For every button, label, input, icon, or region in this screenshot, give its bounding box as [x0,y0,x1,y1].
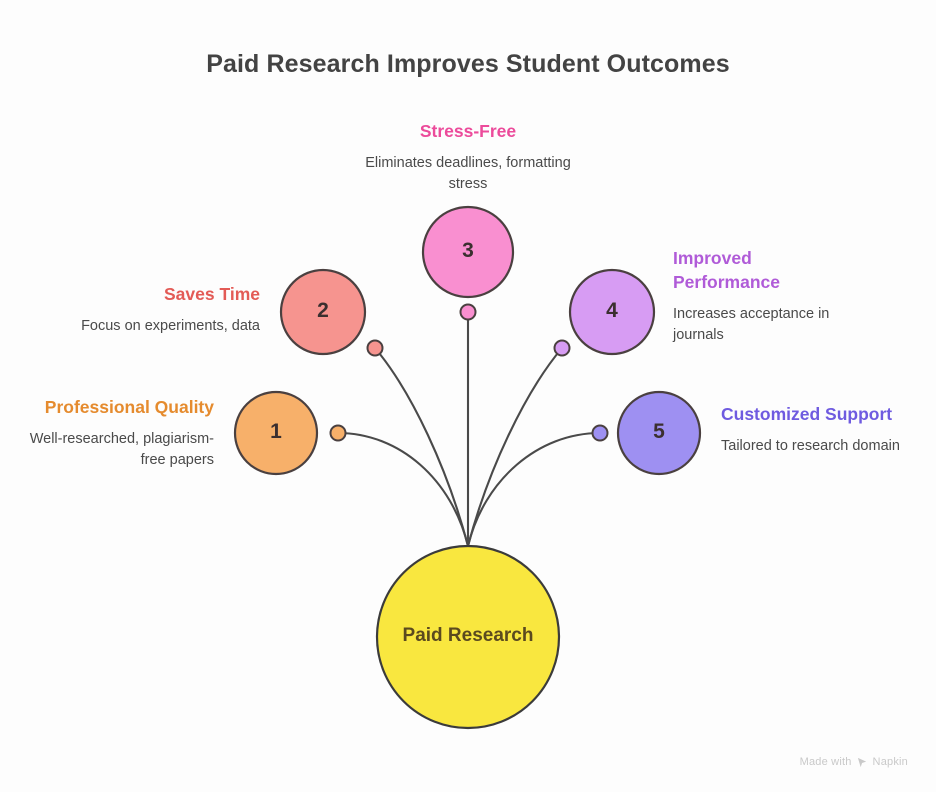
branch-label-5[interactable]: Customized Support Tailored to research … [721,402,921,457]
branch-node-1[interactable] [235,392,317,474]
connector-dot-5 [593,426,608,441]
connector-dot-3 [461,305,476,320]
connector-line-5 [468,433,600,546]
branch-label-2-description: Focus on experiments, data [58,316,260,337]
watermark-brand: Napkin [873,756,908,768]
branch-label-1-description: Well-researched, plagiarism-free papers [14,429,214,471]
connector-dot-1 [331,426,346,441]
branch-label-1[interactable]: Professional Quality Well-researched, pl… [14,395,214,471]
branch-label-3[interactable]: Stress-Free Eliminates deadlines, format… [348,119,588,195]
watermark-prefix: Made with [800,756,852,768]
connector-line-4 [468,348,562,546]
branch-label-3-description: Eliminates deadlines, formatting stress [348,153,588,195]
branch-label-4-heading: Improved Performance [673,246,853,294]
branch-node-5[interactable] [618,392,700,474]
branch-label-4-description: Increases acceptance in journals [673,304,853,346]
branch-label-2[interactable]: Saves Time Focus on experiments, data [58,282,260,337]
branch-label-3-heading: Stress-Free [348,119,588,143]
branch-node-2[interactable] [281,270,365,354]
napkin-logo-icon [857,757,868,768]
connector-line-2 [375,348,468,546]
connector-dot-4 [555,341,570,356]
connector-line-1 [338,433,468,546]
branch-label-4[interactable]: Improved Performance Increases acceptanc… [673,246,853,346]
diagram-canvas: Paid Research Improves Student Outcomes … [0,0,936,792]
napkin-watermark: Made with Napkin [800,756,908,768]
branch-label-5-heading: Customized Support [721,402,921,426]
branch-label-2-heading: Saves Time [58,282,260,306]
connector-dot-2 [368,341,383,356]
branch-label-1-heading: Professional Quality [14,395,214,419]
branch-node-3[interactable] [423,207,513,297]
branch-label-5-description: Tailored to research domain [721,436,921,457]
branch-node-4[interactable] [570,270,654,354]
center-node[interactable] [377,546,559,728]
